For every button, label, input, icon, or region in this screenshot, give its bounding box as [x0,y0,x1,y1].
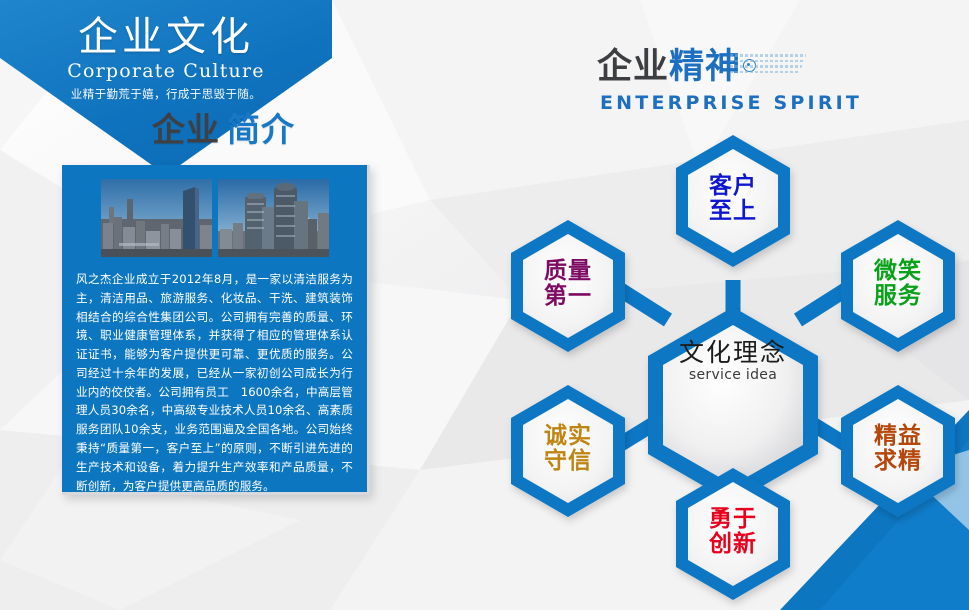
spirit-heading-en: ENTERPRISE SPIRIT [600,92,862,114]
company-intro-heading-dark: 企业 [152,110,220,149]
banner-subtitle: 业精于勤荒于嬉，行成于思毁于随。 [0,86,332,102]
hex-center-label-cn: 文化理念 [653,333,813,369]
hex-innovation [676,468,790,600]
decorative-text-lines [730,54,808,80]
city-skyline-photo-2 [218,179,329,257]
hex-center-label-en: service idea [653,367,813,383]
card-photo-row [101,179,329,257]
city-skyline-photo-1 [101,179,212,257]
hex-customer-first [676,135,790,267]
hex-smile-service [841,220,955,352]
poster-canvas: 企业文化 Corporate Culture 业精于勤荒于嬉，行成于思毁于随。 … [0,0,969,610]
company-intro-card: 风之杰企业成立于2012年8月，是一家以清洁服务为主，清洁用品、旅游服务、化妆品… [62,165,367,492]
hex-integrity [511,385,625,517]
company-intro-heading: 企业简介 [152,113,295,146]
banner-title-cn: 企业文化 [0,12,332,62]
hex-quality-first [511,220,625,352]
company-intro-body: 风之杰企业成立于2012年8月，是一家以清洁服务为主，清洁用品、旅游服务、化妆品… [76,270,353,495]
culture-hexagon-diagram: 文化理念 service idea 客户至上 微笑服务 精益求精 勇于创新 诚实… [498,115,969,610]
spirit-heading-cn-dark: 企业 [597,47,669,87]
enterprise-spirit-heading: 企业精神 ENTERPRISE SPIRIT [597,50,862,114]
company-intro-heading-blue: 简介 [227,110,295,149]
banner-title-en: Corporate Culture [0,60,332,82]
spirit-heading-cn: 企业精神 [597,50,862,85]
hex-excellence [841,385,955,517]
